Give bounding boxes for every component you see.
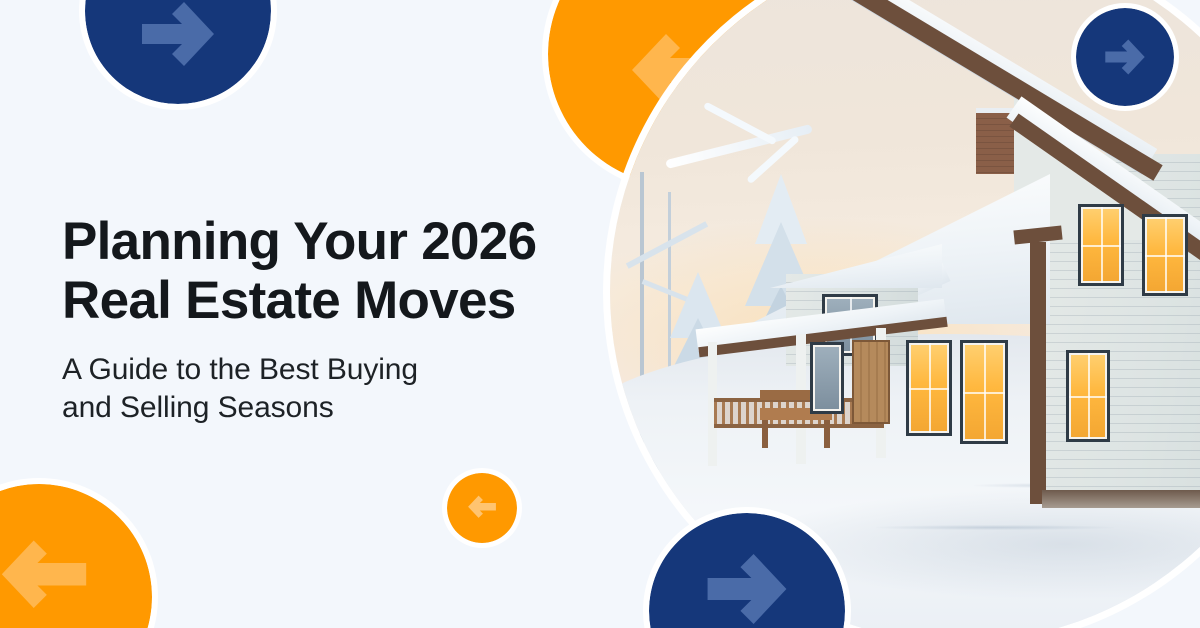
page-subtitle: A Guide to the Best Buying and Selling S…	[62, 351, 622, 428]
text-block: Planning Your 2026 Real Estate Moves A G…	[62, 212, 622, 428]
arrow-right-icon	[701, 549, 793, 628]
arrow-right-icon	[136, 0, 220, 70]
navy-circle-top-left	[85, 0, 271, 104]
arrow-left-icon	[0, 533, 96, 623]
navy-circle-top-right	[1076, 8, 1174, 106]
arrow-left-icon	[465, 493, 499, 523]
page-title: Planning Your 2026 Real Estate Moves	[62, 212, 622, 331]
arrow-right-icon	[1102, 37, 1148, 77]
promo-banner: Planning Your 2026 Real Estate Moves A G…	[0, 0, 1200, 628]
orange-circle-small-mid	[447, 473, 517, 543]
orange-circle-bottom-left	[0, 484, 152, 628]
